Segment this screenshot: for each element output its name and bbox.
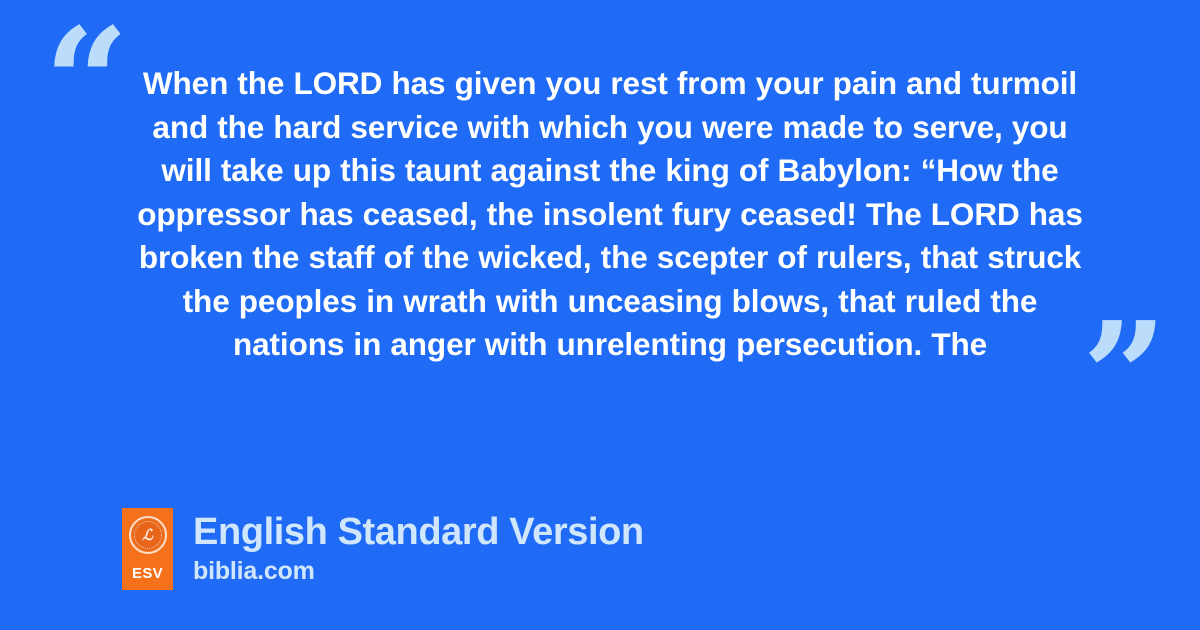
bible-version-name: English Standard Version (193, 510, 644, 554)
site-url-label: biblia.com (193, 556, 644, 586)
esv-seal-icon: ℒ (129, 516, 167, 554)
attribution-footer: ℒ ESV English Standard Version biblia.co… (122, 508, 644, 590)
attribution-text-group: English Standard Version biblia.com (193, 508, 644, 586)
quote-card: “ When the LORD has given you rest from … (0, 0, 1200, 630)
open-quote-icon: “ (44, 8, 129, 156)
esv-abbreviation-label: ESV (132, 566, 163, 581)
quote-text: When the LORD has given you rest from yo… (130, 62, 1090, 367)
esv-logo-badge: ℒ ESV (122, 508, 173, 590)
close-quote-icon: ” (1082, 302, 1167, 450)
quote-body: When the LORD has given you rest from yo… (130, 62, 1090, 367)
seal-monogram-glyph: ℒ (142, 528, 153, 543)
